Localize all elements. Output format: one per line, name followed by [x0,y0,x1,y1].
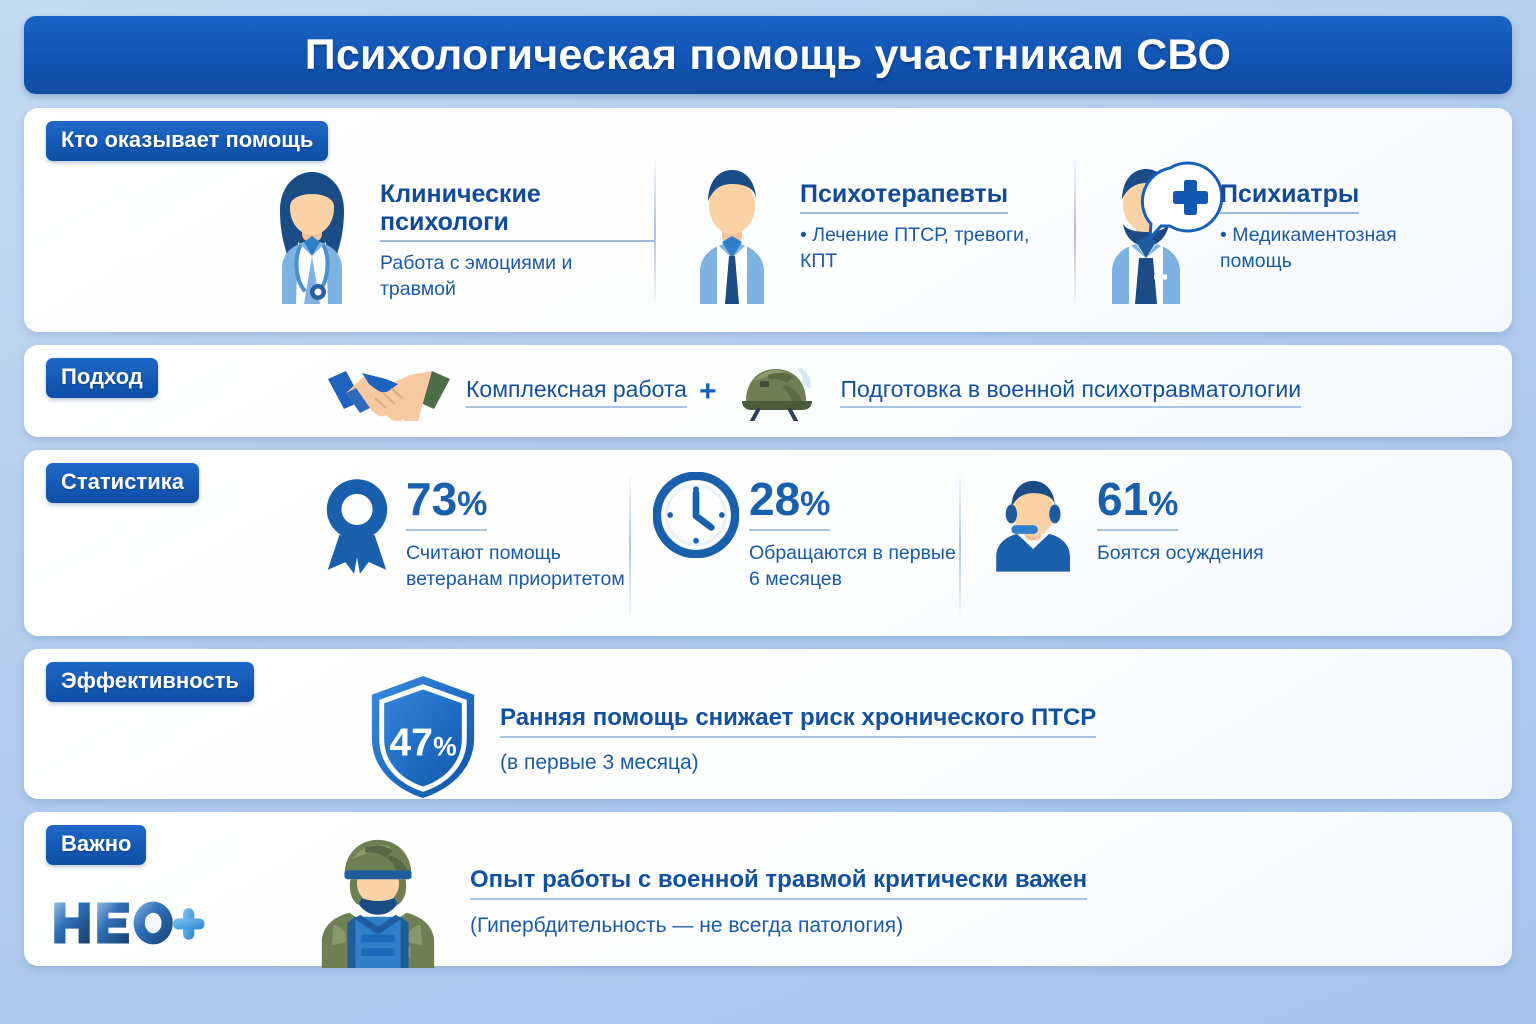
soldier-icon [304,830,452,973]
badge-effectiveness: Эффективность [46,662,254,702]
effectiveness-main-text: Ранняя помощь снижает риск хронического … [500,704,1096,738]
bearded-psychiatrist-avatar-icon [1092,154,1212,304]
ribbon-award-icon [318,472,396,585]
provider-psychiatrists[interactable]: Психиатры • Медикаментозная помощь [1074,154,1494,304]
badge-statistics: Статистика [46,463,199,503]
section-providers: Кто оказывает помощь [24,108,1512,332]
provider-title: Психотерапевты [800,180,1008,214]
effectiveness-sub-text: (в первые 3 месяца) [500,751,1096,775]
male-therapist-avatar-icon [672,154,792,304]
brand-logo [48,895,208,956]
female-psychologist-avatar-icon [252,154,372,304]
header-banner: Психологическая помощь участникам СВО [24,16,1512,94]
provider-clinical-psychologists[interactable]: Клинические психологи Работа с эмоциями … [234,154,654,304]
provider-title: Психиатры [1220,180,1359,214]
section-effectiveness: Эффективность 47% Ранн [24,649,1512,799]
provider-text-group: Клинические психологи Работа с эмоциями … [380,154,654,302]
approach-left-text: Комплексная работа [466,376,687,408]
stat-item-priority[interactable]: 73% Считают помощь ветеранам приоритетом [294,472,629,592]
section-important: Важно [24,812,1512,966]
important-text-group: Опыт работы с военной травмой критически… [470,866,1087,938]
badge-approach: Подход [46,358,158,398]
shield-icon: 47% [364,673,482,806]
infographic-page: Психологическая помощь участникам СВО Кт… [0,0,1536,1024]
stat-body: 61% Боятся осуждения [1097,472,1264,566]
important-row: Опыт работы с военной травмой критически… [304,830,1492,973]
stat-value: 61% [1097,476,1178,531]
approach-row: Комплексная работа + Подготовка в военно… [324,363,1492,421]
section-approach: Подход Комплексная работа + [24,345,1512,437]
stat-label: Боятся осуждения [1097,540,1264,566]
effectiveness-row: 47% Ранняя помощь снижает риск хроническ… [364,673,1492,806]
provider-desc: • Лечение ПТСР, тревоги, КПТ [800,223,1030,274]
provider-text-group: Психотерапевты • Лечение ПТСР, тревоги, … [800,154,1030,274]
provider-title: Клинические психологи [380,180,654,242]
approach-right-text: Подготовка в военной психотравматологии [840,376,1301,408]
stat-label: Обращаются в первые 6 месяцев [749,540,959,592]
provider-desc: • Медикаментозная помощь [1220,223,1450,274]
statistics-row: 73% Считают помощь ветеранам приоритетом [294,472,1494,622]
provider-psychotherapists[interactable]: Психотерапевты • Лечение ПТСР, тревоги, … [654,154,1074,304]
providers-row: Клинические психологи Работа с эмоциями … [234,154,1494,314]
stat-value: 73% [406,476,487,531]
badge-important: Важно [46,825,146,865]
page-title: Психологическая помощь участникам СВО [305,31,1231,80]
important-sub-text: (Гипербдительность — не всегда патология… [470,914,1087,938]
provider-desc: Работа с эмоциями и травмой [380,251,610,302]
plus-icon: + [699,375,717,409]
important-main-text: Опыт работы с военной травмой критически… [470,866,1087,900]
stat-body: 73% Считают помощь ветеранам приоритетом [406,472,629,592]
person-headset-icon [983,472,1087,577]
military-helmet-icon [728,359,828,426]
stat-item-fear-judgement[interactable]: 61% Боятся осуждения [959,472,1494,577]
clock-icon [653,472,739,563]
section-statistics: Статистика 73% Считают помощь ветеранам … [24,450,1512,636]
effectiveness-text-group: Ранняя помощь снижает риск хронического … [500,704,1096,775]
handshake-icon [324,359,454,426]
stat-item-first-6-months[interactable]: 28% Обращаются в первые 6 месяцев [629,472,959,592]
stat-label: Считают помощь ветеранам приоритетом [406,540,629,592]
stat-value: 28% [749,476,830,531]
stat-body: 28% Обращаются в первые 6 месяцев [749,472,959,592]
provider-text-group: Психиатры • Медикаментозная помощь [1220,154,1450,274]
